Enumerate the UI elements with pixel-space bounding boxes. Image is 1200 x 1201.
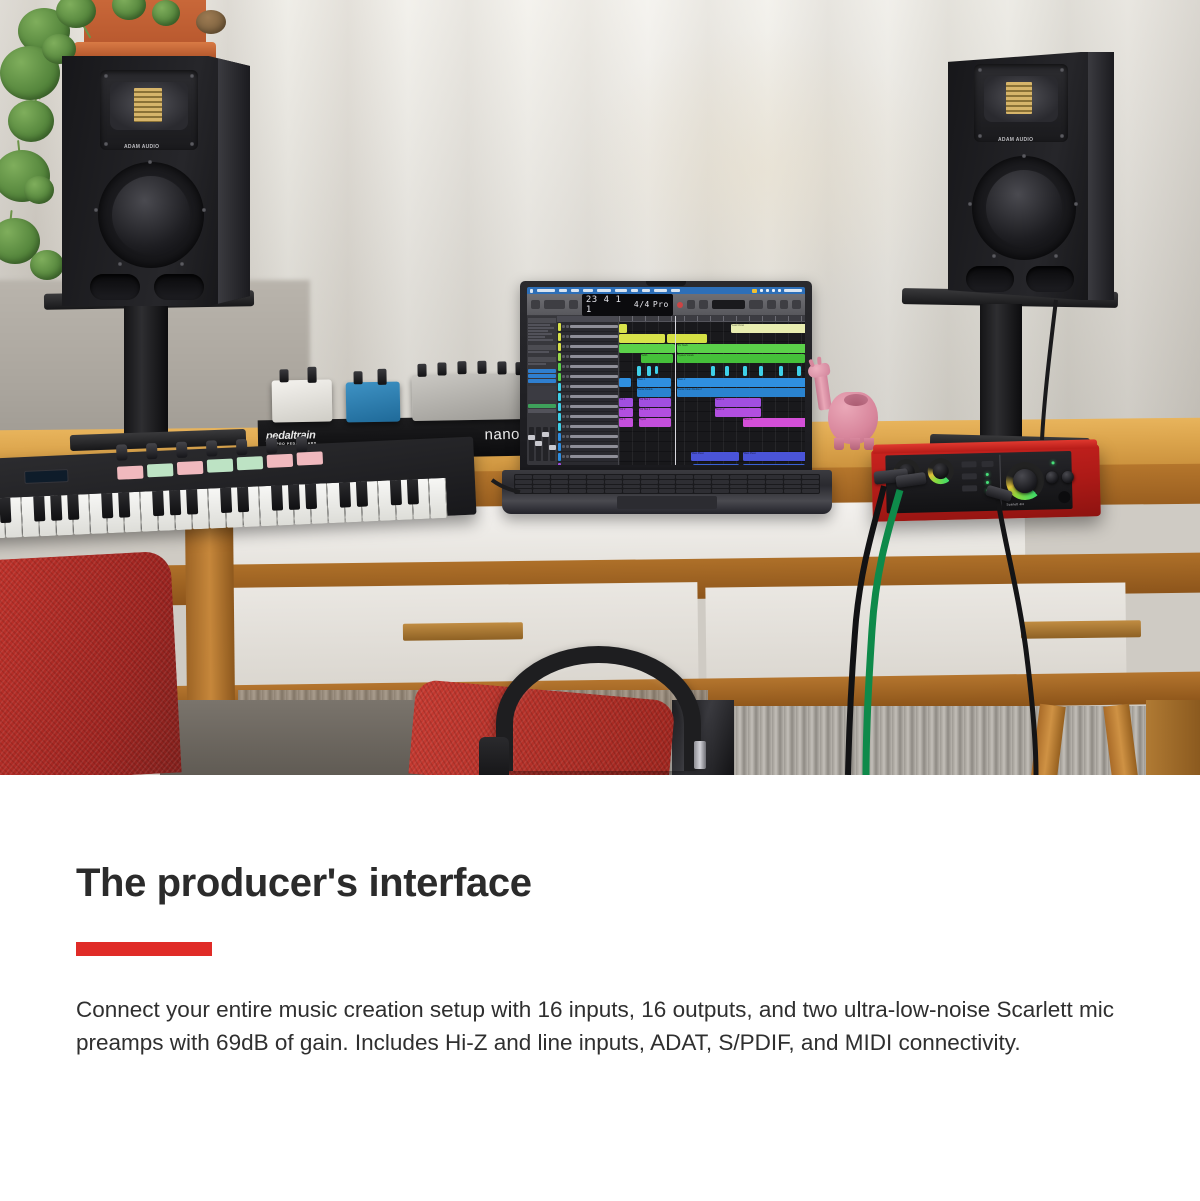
headphone-earcup-left	[479, 737, 509, 775]
usb-cable	[998, 500, 1036, 775]
accent-bar	[76, 942, 212, 956]
text-content-block: The producer's interface Connect your en…	[0, 775, 1200, 1060]
screen-notch	[646, 281, 686, 286]
headphone-headband-slider	[694, 741, 706, 769]
body-copy: Connect your entire music creation setup…	[76, 994, 1124, 1060]
red-knit-chair-back	[0, 551, 182, 775]
speaker-cable-right	[1042, 300, 1056, 440]
page-title: The producer's interface	[76, 861, 1124, 905]
hero-photo: ADAM AUDIO ADAM AUDIO	[0, 0, 1200, 775]
laptop-cable	[492, 480, 520, 492]
